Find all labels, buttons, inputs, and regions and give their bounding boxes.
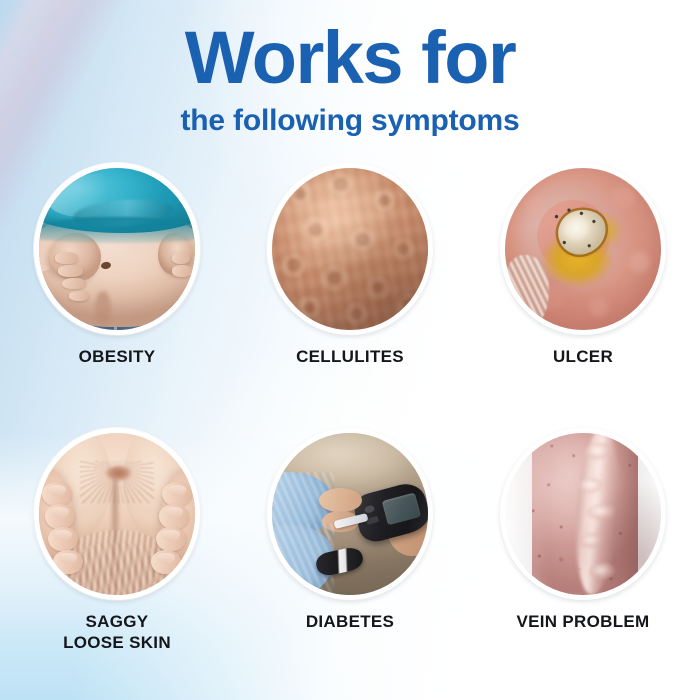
symptom-label-text: OBESITY xyxy=(79,347,156,366)
symptom-label-obesity: OBESITY xyxy=(17,346,217,367)
symptom-label-vein-problem: VEIN PROBLEM xyxy=(483,611,683,632)
symptom-photo-cellulites xyxy=(267,163,433,335)
symptom-label-text: CELLULITES xyxy=(296,347,404,366)
symptom-image-wrap-ulcer xyxy=(500,163,666,335)
symptom-label-ulcer: ULCER xyxy=(483,346,683,367)
symptom-image-wrap-saggy-loose-skin xyxy=(34,428,200,600)
symptom-image-wrap-vein-problem xyxy=(500,428,666,600)
symptom-image-wrap-cellulites xyxy=(267,163,433,335)
symptom-photo-diabetes xyxy=(267,428,433,600)
symptom-label-cellulites: CELLULITES xyxy=(250,346,450,367)
symptom-label-text: SAGGY xyxy=(86,612,149,631)
symptom-card-vein-problem[interactable]: VEIN PROBLEM xyxy=(483,428,683,632)
symptom-label-text: VEIN PROBLEM xyxy=(516,612,649,631)
symptom-image-wrap-obesity xyxy=(34,163,200,335)
symptom-card-obesity[interactable]: OBESITY xyxy=(17,163,217,367)
symptom-photo-saggy-loose-skin xyxy=(34,428,200,600)
symptom-photo-ulcer xyxy=(500,163,666,335)
symptom-image-wrap-diabetes xyxy=(267,428,433,600)
symptom-label-text-line2: LOOSE SKIN xyxy=(17,632,217,653)
symptom-label-text: ULCER xyxy=(553,347,613,366)
symptom-card-cellulites[interactable]: CELLULITES xyxy=(250,163,450,367)
symptom-photo-obesity xyxy=(34,163,200,335)
symptom-label-text: DIABETES xyxy=(306,612,394,631)
symptom-card-ulcer[interactable]: ULCER xyxy=(483,163,683,367)
promo-banner: Works for the following symptoms xyxy=(0,0,700,700)
symptom-card-diabetes[interactable]: DIABETES xyxy=(250,428,450,632)
symptom-grid: OBESITY CELLULITES xyxy=(0,0,700,700)
symptom-label-diabetes: DIABETES xyxy=(250,611,450,632)
symptom-label-saggy-loose-skin: SAGGY LOOSE SKIN xyxy=(17,611,217,653)
symptom-card-saggy-loose-skin[interactable]: SAGGY LOOSE SKIN xyxy=(17,428,217,653)
symptom-photo-vein-problem xyxy=(500,428,666,600)
